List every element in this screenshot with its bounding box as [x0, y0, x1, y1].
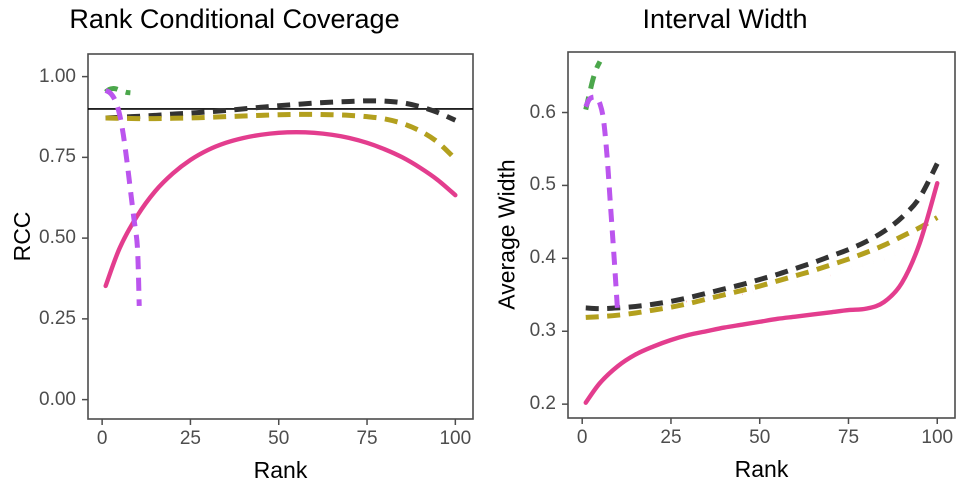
x-tick-label: 75: [808, 427, 888, 449]
y-tick-label: 0.75: [0, 146, 76, 168]
plot-area-right: [485, 0, 969, 485]
x-tick-label: 25: [150, 428, 230, 450]
x-tick-label: 50: [720, 427, 800, 449]
panel-rank-conditional-coverage: Rank Conditional Coverage RCC Rank 02550…: [0, 0, 485, 485]
series-pink-solid: [106, 132, 456, 286]
y-tick-label: 0.3: [476, 320, 556, 342]
panel-border: [568, 52, 955, 418]
x-tick-label: 0: [62, 428, 142, 450]
series-olive-dashed: [106, 114, 456, 159]
x-tick-label: 75: [327, 428, 407, 450]
x-tick-label: 25: [631, 427, 711, 449]
y-tick-label: 0.00: [0, 389, 76, 411]
series-purple-dashed: [586, 97, 618, 313]
y-tick-label: 0.6: [476, 102, 556, 124]
y-tick-label: 0.50: [0, 227, 76, 249]
series-pink-solid: [586, 183, 938, 402]
y-tick-label: 1.00: [0, 66, 76, 88]
x-tick-label: 100: [415, 428, 495, 450]
series-red-dotted: [106, 116, 456, 161]
x-tick-label: 0: [542, 427, 622, 449]
y-tick-label: 0.2: [476, 393, 556, 415]
y-tick-label: 0.5: [476, 174, 556, 196]
y-tick-label: 0.25: [0, 308, 76, 330]
x-tick-label: 100: [897, 427, 969, 449]
figure-root: Rank Conditional Coverage RCC Rank 02550…: [0, 0, 969, 485]
x-tick-label: 50: [239, 428, 319, 450]
y-tick-label: 0.4: [476, 247, 556, 269]
panel-interval-width: Interval Width Average Width Rank 025507…: [485, 0, 969, 485]
